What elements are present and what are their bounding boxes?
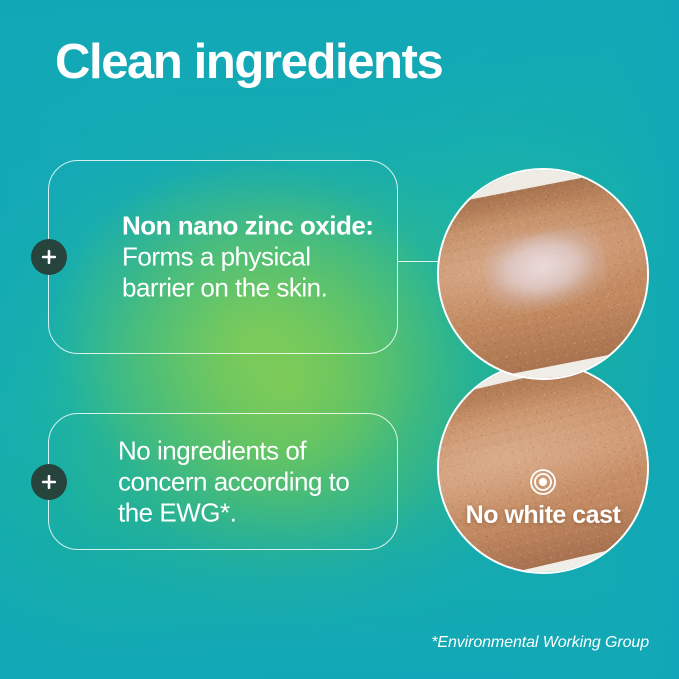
photo-caption-text: No white cast	[439, 502, 647, 529]
page-title: Clean ingredients	[55, 32, 442, 92]
skin-scene	[439, 170, 647, 378]
plus-icon	[31, 239, 67, 275]
feature-card-ewg-text: No ingredients of concern according to t…	[118, 435, 383, 528]
infographic-canvas: Clean ingredients Non nano zinc oxide: F…	[0, 0, 679, 679]
photo-sunscreen-applied	[437, 168, 649, 380]
footnote: *Environmental Working Group	[431, 634, 649, 652]
feature-card-ewg: No ingredients of concern according to t…	[48, 413, 398, 550]
photo-no-white-cast: No white cast	[437, 362, 649, 574]
bullseye-icon	[529, 468, 557, 496]
feature-body: No ingredients of concern according to t…	[118, 435, 383, 528]
feature-card-zinc-oxide-text: Non nano zinc oxide: Forms a physical ba…	[122, 211, 383, 304]
plus-icon	[31, 464, 67, 500]
feature-card-zinc-oxide: Non nano zinc oxide: Forms a physical ba…	[48, 160, 398, 354]
feature-title: Non nano zinc oxide:	[122, 211, 383, 242]
photo-caption-no-white-cast: No white cast	[439, 468, 647, 529]
feature-body: Forms a physical barrier on the skin.	[122, 242, 383, 304]
connector-line	[398, 261, 440, 262]
